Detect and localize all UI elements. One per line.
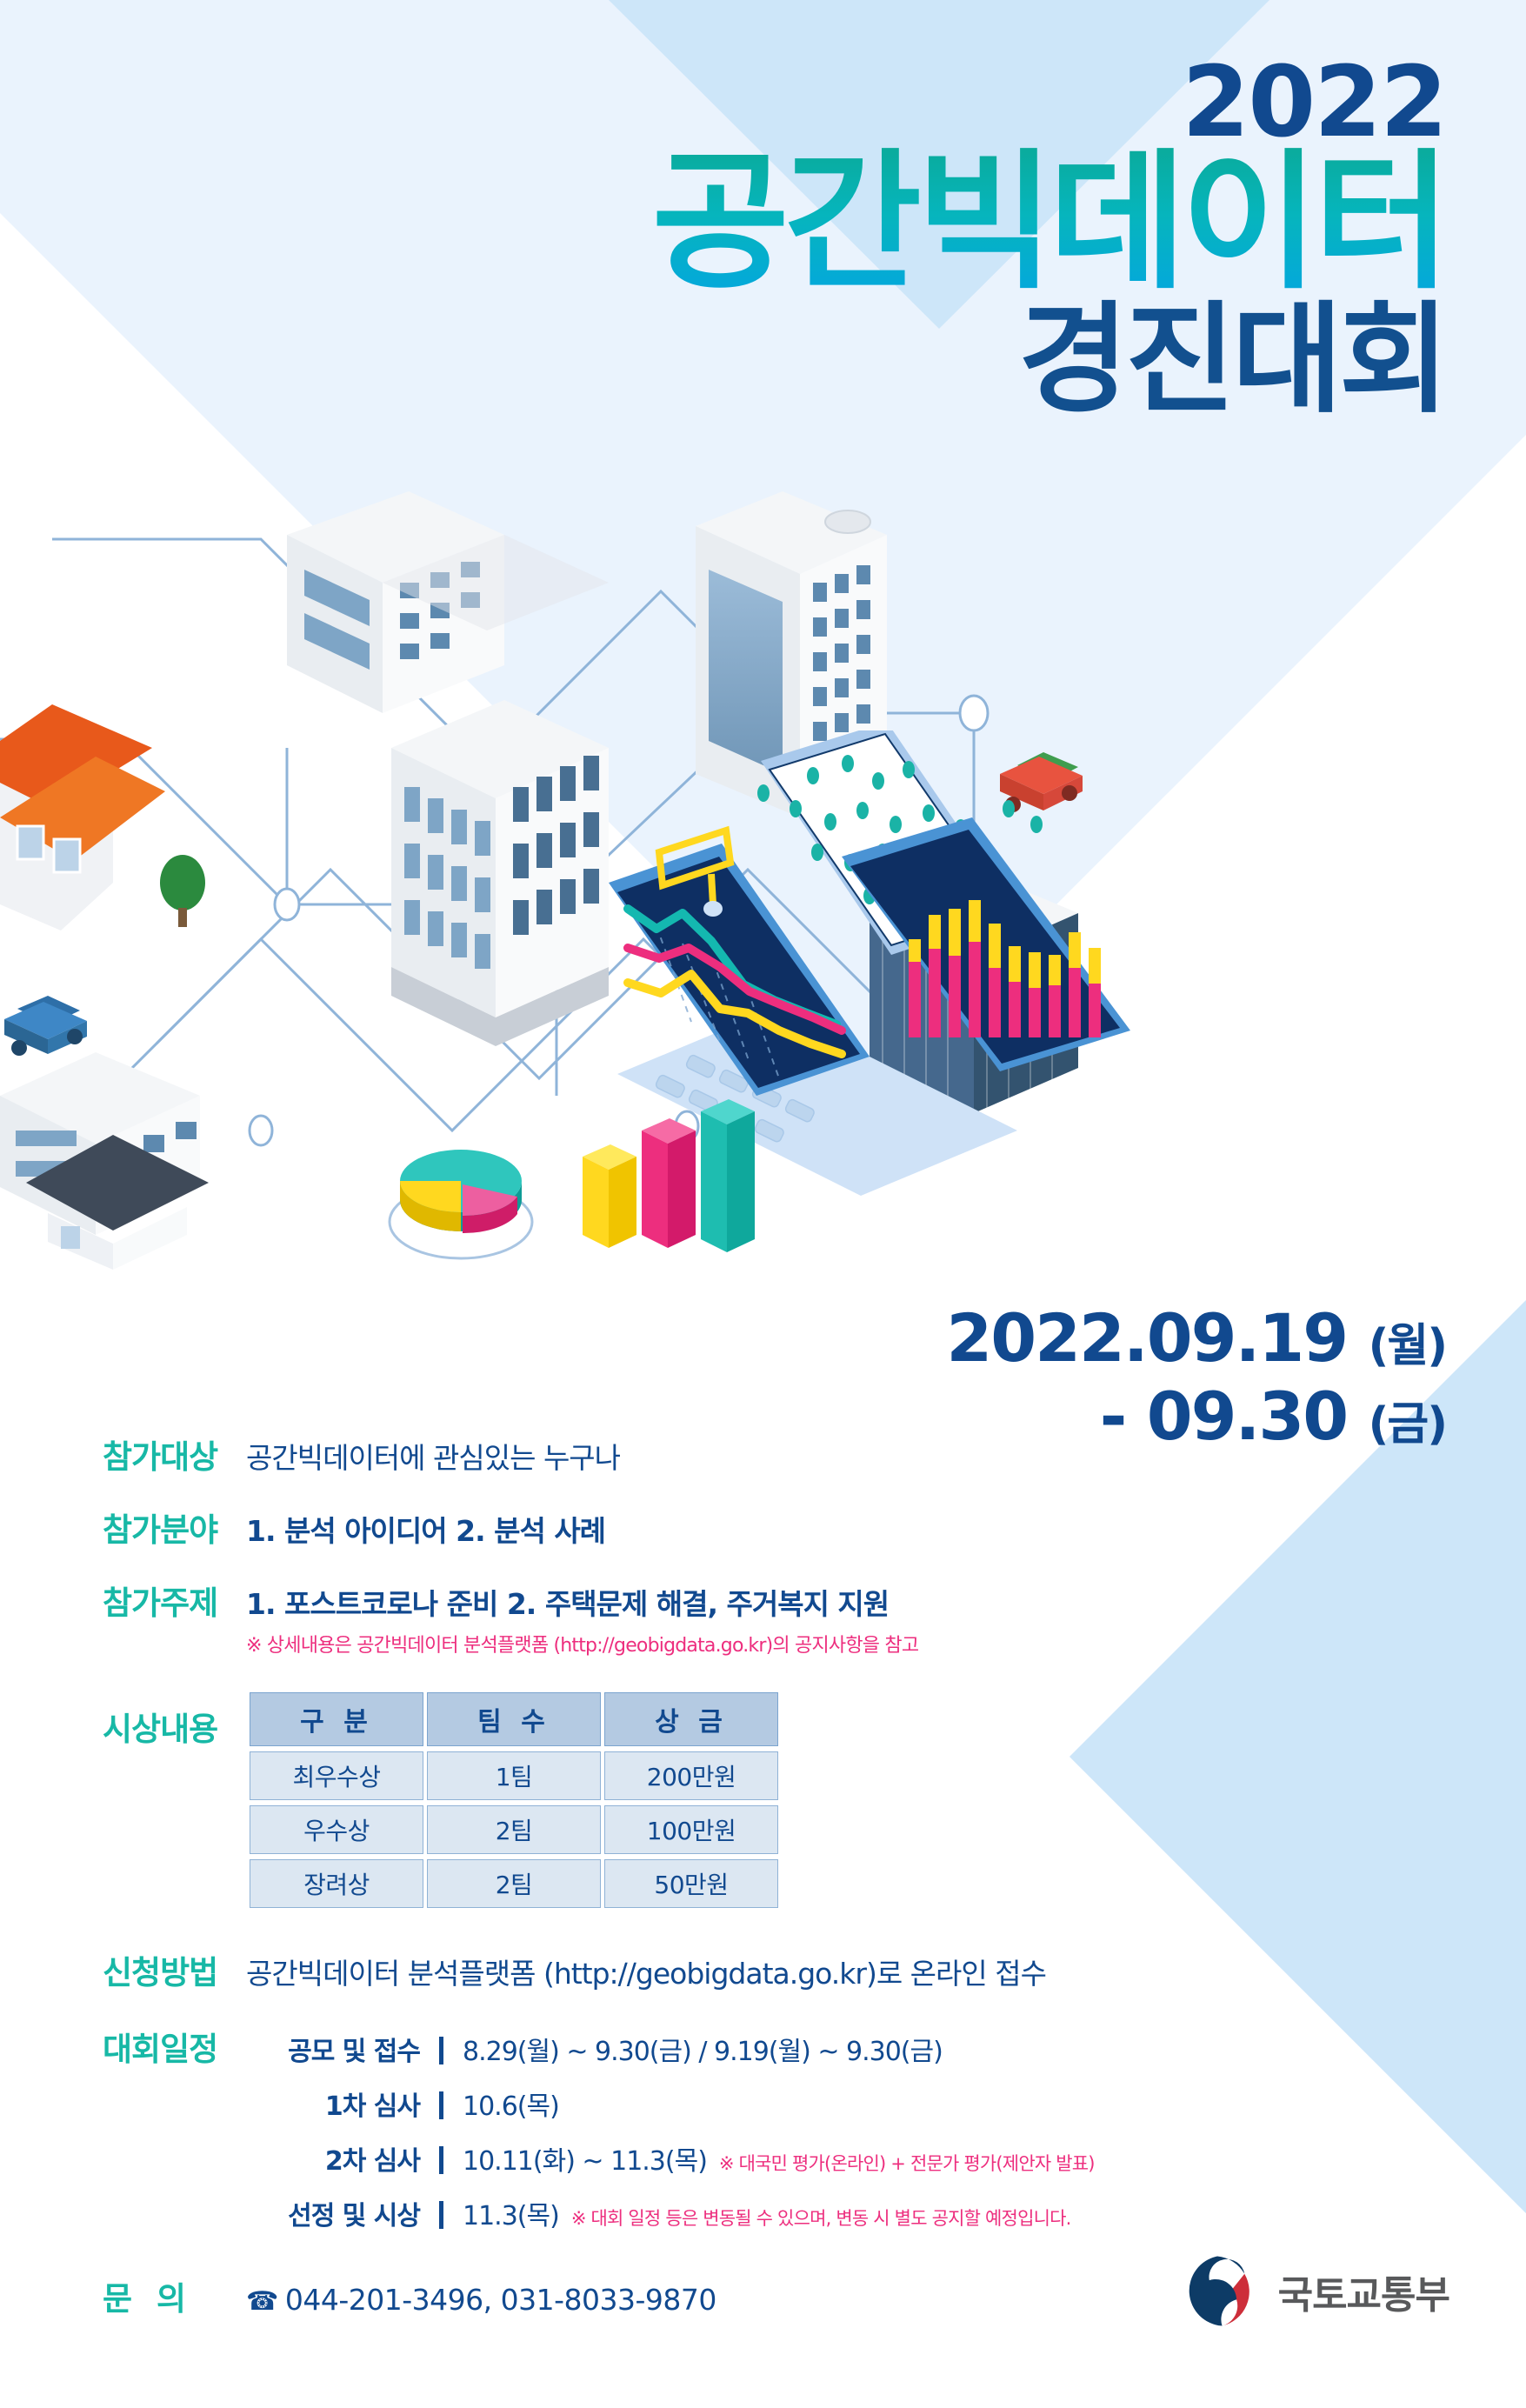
list-item: 선정 및 시상 11.3(목) ※ 대회 일정 등은 변동될 수 있으며, 변동… xyxy=(246,2194,1095,2232)
schedule-value-2: 10.6(목) xyxy=(463,2084,559,2123)
apartment-building-center xyxy=(391,700,609,1046)
label-participation-field: 참가분야 xyxy=(103,1504,246,1551)
schedule-list: 공모 및 접수 8.29(월) ~ 9.30(금) / 9.19(월) ~ 9.… xyxy=(246,2030,1095,2232)
list-item: 1차 심사 10.6(목) xyxy=(246,2084,1095,2123)
schedule-key-2: 1차 심사 xyxy=(246,2084,420,2123)
schedule-divider-icon xyxy=(439,2091,443,2119)
schedule-key-3: 2차 심사 xyxy=(246,2139,420,2178)
value-participation-topic-group: 1. 포스트코로나 준비 2. 주택문제 해결, 주거복지 지원 ※ 상세내용은… xyxy=(246,1581,918,1658)
screen-line-chart xyxy=(609,830,870,1096)
tree-icon xyxy=(160,855,205,927)
schedule-divider-icon xyxy=(439,2201,443,2229)
prize-col-amount: 상 금 xyxy=(604,1692,778,1746)
schedule-value-3: 10.11(화) ~ 11.3(목) xyxy=(463,2139,707,2178)
row-participation-field: 참가분야 1. 분석 아이디어 2. 분석 사례 xyxy=(103,1504,1424,1551)
telephone-icon: ☎ xyxy=(246,2286,278,2317)
prize-teams-2: 2팀 xyxy=(427,1805,601,1854)
prize-col-division: 구 분 xyxy=(250,1692,423,1746)
prize-table-header-row: 구 분 팀 수 상 금 xyxy=(250,1692,778,1746)
label-prize: 시상내용 xyxy=(103,1687,246,1750)
schedule-note-4: ※ 대회 일정 등은 변동될 수 있으며, 변동 시 별도 공지할 예정입니다. xyxy=(571,2205,1071,2231)
table-row: 최우수상 1팀 200만원 xyxy=(250,1751,778,1800)
value-contact: ☎044-201-3496, 031-8033-9870 xyxy=(246,2283,716,2317)
label-application-method: 신청방법 xyxy=(103,1946,246,1993)
value-participation-topic: 1. 포스트코로나 준비 2. 주택문제 해결, 주거복지 지원 xyxy=(246,1581,918,1623)
prize-teams-3: 2팀 xyxy=(427,1859,601,1908)
event-date-line-1: 2022.09.19 (월) xyxy=(946,1299,1446,1377)
label-contact: 문의 xyxy=(103,2272,246,2319)
prize-division-3: 장려상 xyxy=(250,1859,423,1908)
prize-division-1: 최우수상 xyxy=(250,1751,423,1800)
value-participation-field: 1. 분석 아이디어 2. 분석 사례 xyxy=(246,1508,605,1550)
row-prize-table: 시상내용 구 분 팀 수 상 금 최우수상 1팀 200만원 우수상 2팀 1 xyxy=(103,1687,1424,1913)
prize-division-2: 우수상 xyxy=(250,1805,423,1854)
value-application-method: 공간빅데이터 분석플랫폼 (http://geobigdata.go.kr)로 … xyxy=(246,1951,1046,1992)
blue-pickup-truck xyxy=(4,996,87,1056)
prize-amount-2: 100만원 xyxy=(604,1805,778,1854)
prize-teams-1: 1팀 xyxy=(427,1751,601,1800)
prize-col-teams: 팀 수 xyxy=(427,1692,601,1746)
details-section: 참가대상 공간빅데이터에 관심있는 누구나 참가분야 1. 분석 아이디어 2.… xyxy=(103,1431,1424,2319)
poster-title-sub: 경진대회 xyxy=(1018,300,1446,420)
label-schedule: 대회일정 xyxy=(103,2023,246,2070)
row-application-method: 신청방법 공간빅데이터 분석플랫폼 (http://geobigdata.go.… xyxy=(103,1946,1424,1993)
footer-ministry-logo: 국토교통부 xyxy=(1177,2251,1449,2331)
list-item: 2차 심사 10.11(화) ~ 11.3(목) ※ 대국민 평가(온라인) +… xyxy=(246,2139,1095,2178)
label-participation-target: 참가대상 xyxy=(103,1431,246,1477)
schedule-divider-icon xyxy=(439,2146,443,2174)
row-schedule: 대회일정 공모 및 접수 8.29(월) ~ 9.30(금) / 9.19(월)… xyxy=(103,2023,1424,2232)
schedule-value-1: 8.29(월) ~ 9.30(금) / 9.19(월) ~ 9.30(금) xyxy=(463,2030,943,2068)
schedule-key-4: 선정 및 시상 xyxy=(246,2194,420,2232)
label-participation-topic: 참가주제 xyxy=(103,1577,246,1624)
schedule-key-1: 공모 및 접수 xyxy=(246,2030,420,2068)
prize-table: 구 분 팀 수 상 금 최우수상 1팀 200만원 우수상 2팀 100만원 장… xyxy=(246,1687,782,1913)
korea-government-taegeuk-logo-icon xyxy=(1177,2251,1257,2331)
charts-3d-svg xyxy=(365,1070,765,1270)
prize-amount-1: 200만원 xyxy=(604,1751,778,1800)
house-orange-roof xyxy=(0,704,165,931)
illustration-charts-3d xyxy=(365,1070,765,1270)
table-row: 우수상 2팀 100만원 xyxy=(250,1805,778,1854)
row-participation-target: 참가대상 공간빅데이터에 관심있는 누구나 xyxy=(103,1431,1424,1477)
schedule-divider-icon xyxy=(439,2037,443,2064)
row-participation-topic: 참가주제 1. 포스트코로나 준비 2. 주택문제 해결, 주거복지 지원 ※ … xyxy=(103,1577,1424,1658)
pie-chart-3d xyxy=(400,1150,522,1233)
bar-chart-3d xyxy=(583,1099,755,1252)
poster-title-main: 공간빅데이터 xyxy=(652,148,1446,297)
ministry-name-label: 국토교통부 xyxy=(1278,2264,1449,2319)
office-building-a xyxy=(287,491,609,713)
list-item: 공모 및 접수 8.29(월) ~ 9.30(금) / 9.19(월) ~ 9.… xyxy=(246,2030,1095,2068)
table-row: 장려상 2팀 50만원 xyxy=(250,1859,778,1908)
value-participation-target: 공간빅데이터에 관심있는 누구나 xyxy=(246,1435,620,1477)
contact-phone-numbers: 044-201-3496, 031-8033-9870 xyxy=(285,2283,716,2317)
schedule-note-3: ※ 대국민 평가(온라인) + 전문가 평가(제안자 발표) xyxy=(719,2150,1095,2176)
event-start-date: 2022.09.19 xyxy=(946,1299,1347,1377)
note-participation-topic: ※ 상세내용은 공간빅데이터 분석플랫폼 (http://geobigdata.… xyxy=(246,1630,918,1658)
schedule-value-4: 11.3(목) xyxy=(463,2194,559,2232)
event-start-day: (월) xyxy=(1369,1320,1446,1372)
prize-amount-3: 50만원 xyxy=(604,1859,778,1908)
